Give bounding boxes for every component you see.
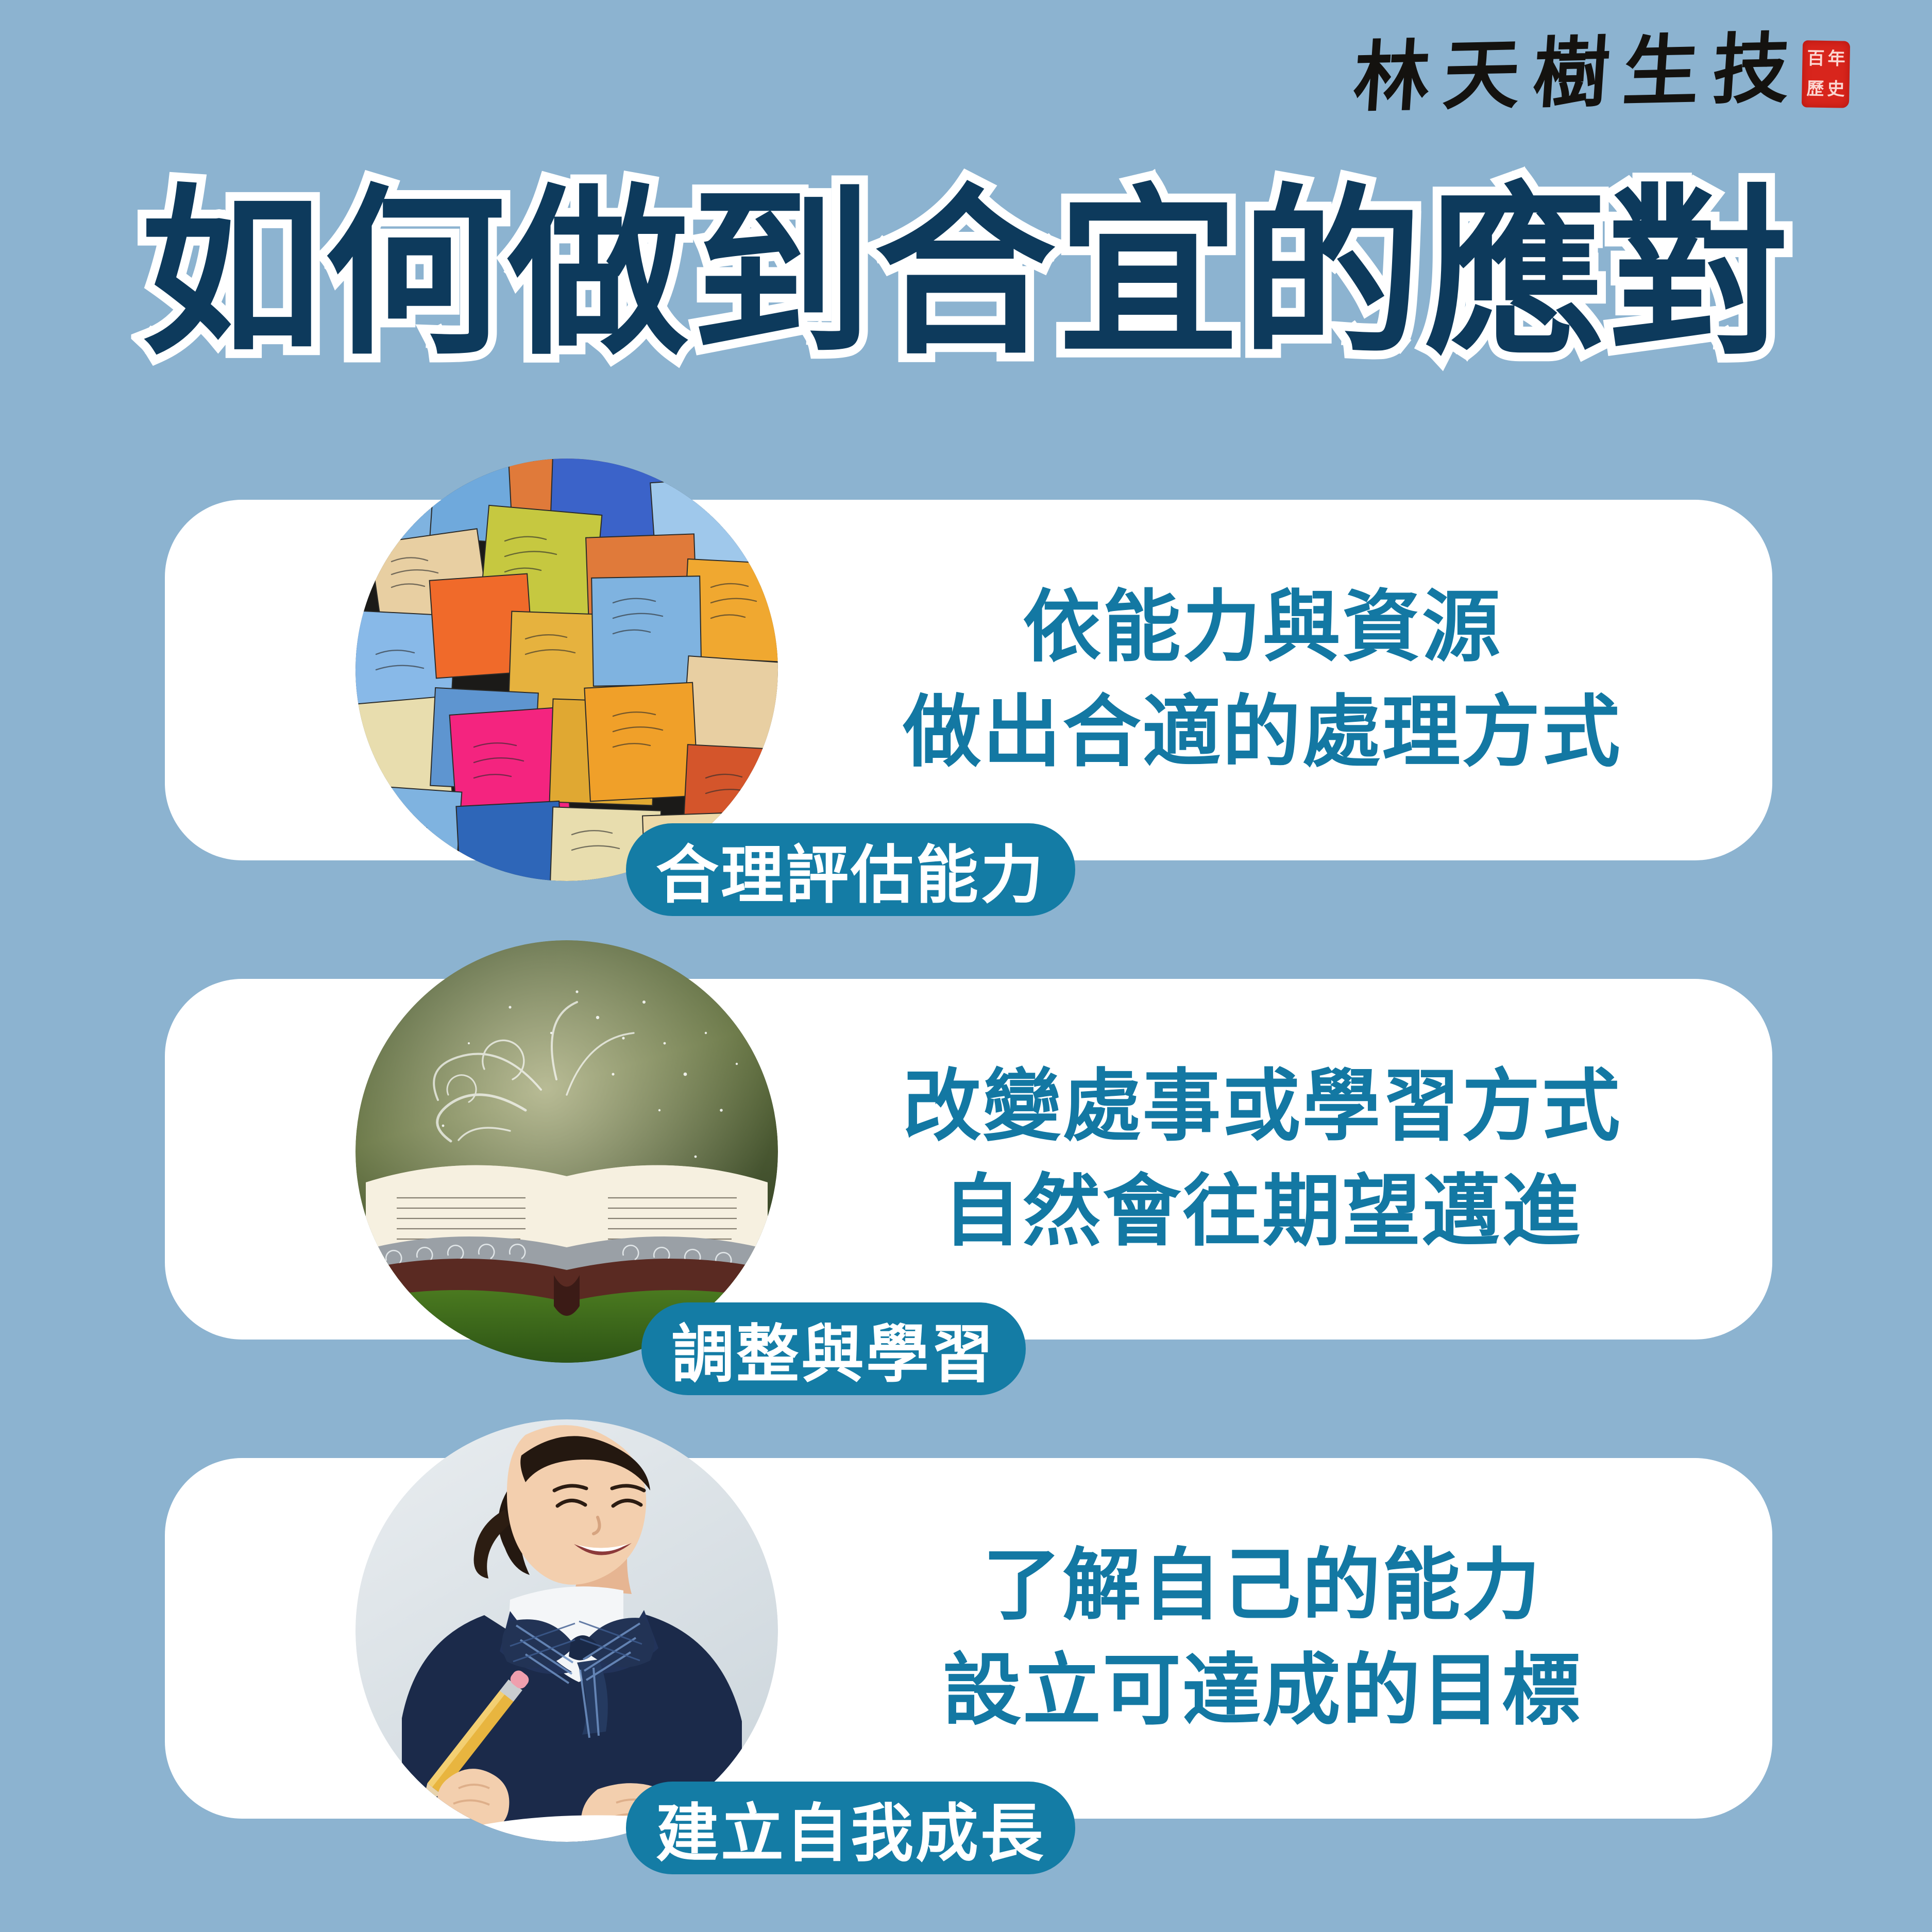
brand-name: 林天樹生技	[1351, 31, 1805, 117]
card-3-line-1: 了解自己的能力	[814, 1533, 1710, 1638]
brand-logo: 林天樹生技 百 年 歷 史	[1354, 36, 1850, 112]
seal-char-3: 歷	[1805, 74, 1825, 104]
card-1-badge: 合理評估能力	[626, 823, 1075, 916]
card-3-badge: 建立自我成長	[626, 1782, 1075, 1874]
page-title: 如何做到合宜的應對	[0, 183, 1932, 364]
card-2-line-2: 自然會往期望邁進	[814, 1159, 1710, 1264]
card-2-text: 改變處事或學習方式 自然會往期望邁進	[814, 1054, 1710, 1264]
card-2-photo-magic-book	[355, 940, 778, 1363]
card-1-photo-sticky-notes	[355, 459, 778, 881]
card-3-photo-student	[355, 1419, 778, 1842]
card-2-line-1: 改變處事或學習方式	[814, 1054, 1710, 1159]
card-1-line-1: 依能力與資源	[814, 575, 1710, 680]
card-3-text: 了解自己的能力 設立可達成的目標	[814, 1533, 1710, 1743]
card-2-badge: 調整與學習	[641, 1302, 1026, 1395]
card-1-text: 依能力與資源 做出合適的處理方式	[814, 575, 1710, 785]
red-seal-stamp-icon: 百 年 歷 史	[1802, 40, 1850, 108]
seal-char-4: 史	[1826, 75, 1846, 105]
seal-char-2: 年	[1826, 44, 1846, 74]
card-3-line-2: 設立可達成的目標	[814, 1638, 1710, 1743]
card-1-line-2: 做出合適的處理方式	[814, 680, 1710, 785]
seal-char-1: 百	[1806, 44, 1826, 74]
